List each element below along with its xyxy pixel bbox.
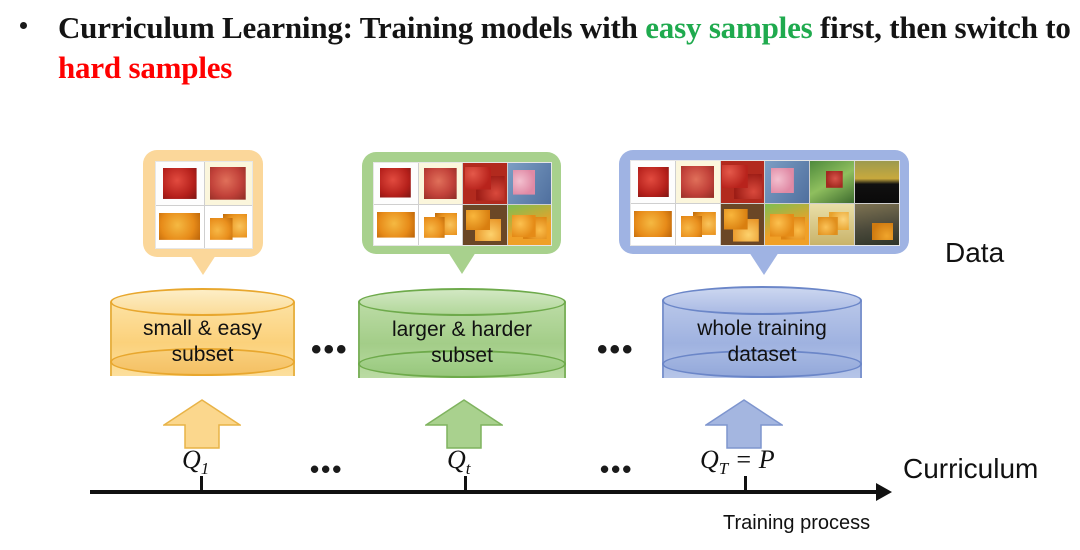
cylinder-whole-dataset: whole training dataset (662, 286, 862, 392)
cylinder-label: larger & harder subset (358, 317, 566, 369)
title-hard-samples: hard samples (58, 50, 232, 85)
q1-symbol: Q (182, 445, 201, 474)
ellipsis-between-stage-1-2: ••• (311, 335, 349, 365)
thumb-apple-pile (721, 161, 765, 203)
image-grid-whole (630, 160, 900, 246)
thumb-orange-basket (810, 204, 854, 246)
axis-label-qT-equals-P: QT = P (700, 445, 775, 479)
cylinder-label-line1: larger & harder (358, 317, 566, 343)
cylinder-top (358, 288, 566, 316)
block-arrow-medium (425, 398, 503, 450)
bubble-tail-easy (190, 255, 216, 275)
data-bubble-medium (362, 152, 561, 254)
thumb-apple-2 (205, 162, 253, 205)
cylinder-label-line1: whole training (662, 316, 862, 342)
curriculum-axis-arrowhead (876, 483, 892, 501)
thumb-orange-1 (374, 205, 418, 246)
axis-label-qt: Qt (447, 445, 471, 479)
qT-subscript: T (719, 459, 728, 478)
title-middle: first, then switch to (813, 10, 1071, 45)
cylinder-label: small & easy subset (110, 316, 295, 368)
bubble-tail-medium (448, 252, 476, 274)
thumb-apple-1 (156, 162, 204, 205)
slide-canvas: Curriculum Learning: Training models wit… (0, 0, 1080, 550)
thumb-apple-pile (463, 163, 507, 204)
thumb-apple-2 (676, 161, 720, 203)
axis-label-q1: Q1 (182, 445, 209, 479)
label-training-process: Training process (723, 512, 870, 535)
cylinder-larger-harder: larger & harder subset (358, 288, 566, 392)
curriculum-axis-line (90, 490, 878, 494)
thumb-apple-tree (810, 161, 854, 203)
block-arrow-whole (705, 398, 783, 450)
thumb-orange-market (463, 205, 507, 246)
ellipsis-between-stage-2-3: ••• (597, 335, 635, 365)
thumb-orange-2 (676, 204, 720, 246)
image-grid-easy (155, 161, 253, 249)
bubble-tail-whole (749, 252, 779, 275)
thumb-orange-1 (631, 204, 675, 246)
axis-ellipsis-1: ••• (310, 456, 343, 482)
title-prefix: Curriculum Learning: Training models wit… (58, 10, 645, 45)
label-data: Data (945, 237, 1004, 269)
thumb-apple-1 (631, 161, 675, 203)
cylinder-label-line1: small & easy (110, 316, 295, 342)
qT-suffix: = P (728, 445, 774, 474)
image-grid-medium (373, 162, 552, 246)
page-title: Curriculum Learning: Training models wit… (58, 8, 1080, 88)
block-arrow-easy (163, 398, 241, 450)
q1-subscript: 1 (201, 459, 210, 478)
qt-symbol: Q (447, 445, 466, 474)
cylinder-label-line2: subset (358, 343, 566, 369)
data-bubble-whole (619, 150, 909, 254)
thumb-orange-crate (765, 204, 809, 246)
thumb-apple-2 (419, 163, 463, 204)
thumb-apple-1 (374, 163, 418, 204)
thumb-orange-crate (508, 205, 552, 246)
thumb-orange-market (721, 204, 765, 246)
thumb-apple-hands (508, 163, 552, 204)
cylinder-label-line2: subset (110, 342, 295, 368)
thumb-fruit-stand (855, 161, 899, 203)
thumb-orange-2 (205, 206, 253, 249)
cylinder-label: whole training dataset (662, 316, 862, 368)
thumb-apple-hands (765, 161, 809, 203)
data-bubble-easy (143, 150, 263, 257)
thumb-orange-2 (419, 205, 463, 246)
thumb-orange-1 (156, 206, 204, 249)
axis-ellipsis-2: ••• (600, 456, 633, 482)
label-curriculum: Curriculum (903, 453, 1038, 485)
cylinder-top (662, 286, 862, 315)
thumb-market-people (855, 204, 899, 246)
qt-subscript: t (466, 459, 471, 478)
cylinder-top (110, 288, 295, 316)
cylinder-label-line2: dataset (662, 342, 862, 368)
title-easy-samples: easy samples (645, 10, 812, 45)
qT-symbol: Q (700, 445, 719, 474)
cylinder-small-easy: small & easy subset (110, 288, 295, 390)
bullet-point-icon (20, 22, 27, 29)
